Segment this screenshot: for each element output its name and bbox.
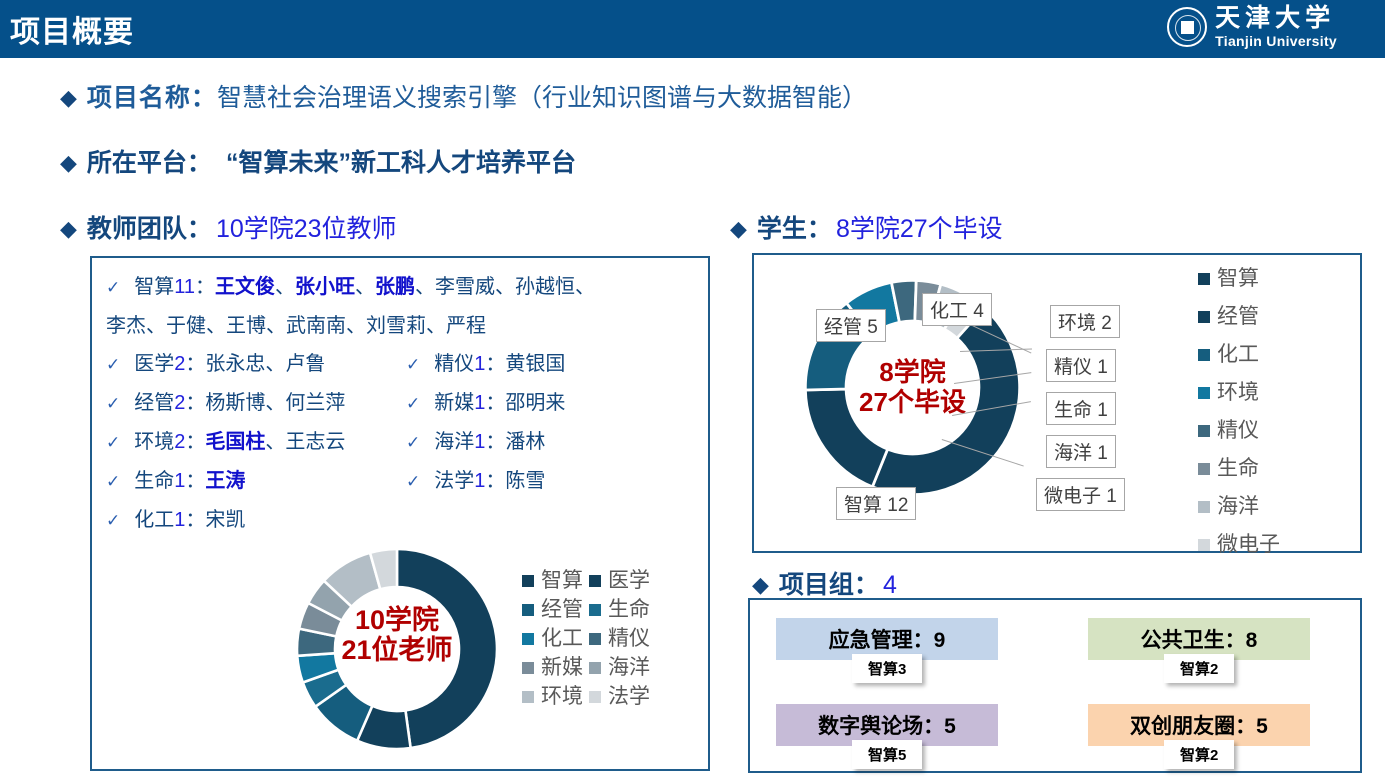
callout-microelectronics: 微电子 1 — [1036, 478, 1125, 511]
legend-item: 环境 — [1198, 374, 1280, 412]
project-groups-label: 项目组： — [779, 565, 879, 601]
tianjin-university-logo: 天津大学 Tianjin University — [1167, 6, 1337, 48]
check-icon: ✓ — [106, 278, 120, 297]
legend-swatch-icon — [1198, 501, 1210, 513]
page-title: 项目概要 — [10, 7, 134, 51]
legend-label: 生命 — [1217, 450, 1259, 488]
legend-swatch-icon — [522, 662, 534, 674]
legend-label: 环境 — [541, 682, 583, 711]
project-groups-value: 4 — [883, 571, 897, 600]
bullet-platform: ◆ 所在平台： “智算未来”新工科人才培养平台 — [60, 143, 576, 179]
check-icon: ✓ — [406, 355, 420, 374]
legend-label: 法学 — [608, 682, 650, 711]
legend-label: 海洋 — [1217, 488, 1259, 526]
callout-environment: 环境 2 — [1050, 305, 1120, 338]
group-tag: 智算2 — [1164, 740, 1234, 769]
diamond-bullet-icon: ◆ — [60, 216, 77, 242]
legend-swatch-icon — [1198, 539, 1210, 551]
teacher-team-label: 教师团队： — [87, 209, 212, 245]
callout-life: 生命 1 — [1046, 392, 1116, 425]
legend-item: 经管 — [1198, 298, 1280, 336]
group-title: 数字舆论场：5 — [818, 710, 956, 740]
university-seal-icon — [1167, 7, 1207, 47]
teacher-donut-center-label: 10学院 21位老师 — [292, 530, 502, 740]
legend-swatch-icon — [522, 604, 534, 616]
check-icon: ✓ — [106, 355, 120, 374]
legend-swatch-icon — [589, 691, 601, 703]
diamond-bullet-icon: ◆ — [752, 572, 769, 598]
logo-english-name: Tianjin University — [1215, 34, 1337, 48]
group-tag: 智算2 — [1164, 654, 1234, 683]
callout-chemical: 化工 4 — [922, 293, 992, 326]
legend-swatch-icon — [589, 633, 601, 645]
legend-label: 精仪 — [608, 624, 650, 653]
legend-item: 精仪 — [589, 624, 650, 653]
check-icon: ✓ — [106, 433, 120, 452]
teacher-team-panel: ✓智算11：王文俊、张小旺、张鹏、李雪威、孙越恒、李杰、于健、王博、武南南、刘雪… — [90, 256, 710, 771]
legend-item: 智算 — [1198, 260, 1280, 298]
teacher-row: ✓医学2：张永忠、卢鲁✓精仪1：黄银国 — [106, 345, 698, 384]
bullet-project-name: ◆ 项目名称： 智慧社会治理语义搜索引擎（行业知识图谱与大数据智能） — [60, 78, 867, 114]
teacher-row-continued: 李杰、于健、王博、武南南、刘雪莉、严程 — [106, 307, 698, 345]
group-title: 双创朋友圈：5 — [1130, 710, 1268, 740]
legend-label: 精仪 — [1217, 412, 1259, 450]
legend-swatch-icon — [1198, 349, 1210, 361]
project-name-value: 智慧社会治理语义搜索引擎（行业知识图谱与大数据智能） — [217, 78, 867, 114]
legend-label: 生命 — [608, 595, 650, 624]
legend-item: 海洋 — [1198, 488, 1280, 526]
legend-item: 微电子 — [1198, 526, 1280, 564]
check-icon: ✓ — [406, 433, 420, 452]
legend-swatch-icon — [1198, 425, 1210, 437]
legend-swatch-icon — [1198, 273, 1210, 285]
legend-swatch-icon — [589, 604, 601, 616]
check-icon: ✓ — [106, 472, 120, 491]
teacher-row: ✓智算11：王文俊、张小旺、张鹏、李雪威、孙越恒、 — [106, 268, 698, 307]
legend-item: 智算 — [522, 566, 583, 595]
legend-swatch-icon — [522, 575, 534, 587]
project-name-label: 项目名称： — [87, 78, 217, 114]
student-donut-legend: 智算经管化工环境精仪生命海洋微电子 — [1198, 260, 1280, 564]
bullet-project-groups: ◆ 项目组： 4 — [752, 565, 897, 601]
legend-label: 经管 — [1217, 298, 1259, 336]
students-value: 8学院27个毕设 — [836, 209, 1003, 245]
legend-item: 海洋 — [589, 653, 650, 682]
legend-item: 化工 — [1198, 336, 1280, 374]
legend-item: 新媒 — [522, 653, 583, 682]
callout-instrument: 精仪 1 — [1046, 349, 1116, 382]
callout-economics: 经管 5 — [816, 309, 886, 342]
platform-label: 所在平台： — [87, 143, 212, 179]
teacher-row: ✓生命1：王涛✓法学1：陈雪 — [106, 462, 698, 501]
diamond-bullet-icon: ◆ — [60, 150, 77, 176]
teacher-donut-chart: 10学院 21位老师 — [292, 530, 502, 768]
student-panel: 8学院 27个毕设 化工 4 经管 5 智算 12 环境 2 精仪 1 生命 1… — [752, 253, 1362, 553]
legend-label: 经管 — [541, 595, 583, 624]
legend-swatch-icon — [522, 633, 534, 645]
teacher-row: ✓环境2：毛国柱、王志云✓海洋1：潘林 — [106, 423, 698, 462]
diamond-bullet-icon: ◆ — [60, 85, 77, 111]
page-header: 项目概要 天津大学 Tianjin University — [0, 0, 1385, 58]
legend-label: 智算 — [1217, 260, 1259, 298]
callout-computing: 智算 12 — [836, 487, 916, 520]
legend-item: 生命 — [1198, 450, 1280, 488]
legend-swatch-icon — [1198, 463, 1210, 475]
bullet-teacher-team: ◆ 教师团队： 10学院23位教师 — [60, 209, 397, 245]
project-groups-panel: 应急管理：9智算3公共卫生：8智算2数字舆论场：5智算5双创朋友圈：5智算2 — [748, 598, 1362, 773]
bullet-students: ◆ 学生： 8学院27个毕设 — [730, 209, 1003, 245]
diamond-bullet-icon: ◆ — [730, 216, 747, 242]
legend-item: 环境 — [522, 682, 583, 711]
platform-value: “智算未来”新工科人才培养平台 — [226, 143, 576, 179]
check-icon: ✓ — [406, 394, 420, 413]
group-tag: 智算5 — [852, 740, 922, 769]
legend-label: 医学 — [608, 566, 650, 595]
teacher-list: ✓智算11：王文俊、张小旺、张鹏、李雪威、孙越恒、李杰、于健、王博、武南南、刘雪… — [106, 268, 698, 540]
legend-swatch-icon — [522, 691, 534, 703]
legend-item: 经管 — [522, 595, 583, 624]
legend-swatch-icon — [1198, 387, 1210, 399]
legend-label: 智算 — [541, 566, 583, 595]
check-icon: ✓ — [406, 472, 420, 491]
legend-label: 新媒 — [541, 653, 583, 682]
legend-label: 微电子 — [1217, 526, 1280, 564]
legend-label: 海洋 — [608, 653, 650, 682]
check-icon: ✓ — [106, 511, 120, 530]
legend-label: 化工 — [541, 624, 583, 653]
legend-label: 环境 — [1217, 374, 1259, 412]
teacher-row: ✓经管2：杨斯博、何兰萍✓新媒1：邵明来 — [106, 384, 698, 423]
legend-item: 化工 — [522, 624, 583, 653]
teacher-donut-legend: 智算医学经管生命化工精仪新媒海洋环境法学 — [522, 566, 650, 711]
check-icon: ✓ — [106, 394, 120, 413]
group-title: 应急管理：9 — [829, 624, 946, 654]
teacher-team-value: 10学院23位教师 — [216, 209, 397, 245]
callout-marine: 海洋 1 — [1046, 435, 1116, 468]
logo-chinese-name: 天津大学 — [1215, 6, 1337, 31]
group-title: 公共卫生：8 — [1141, 624, 1258, 654]
group-tag: 智算3 — [852, 654, 922, 683]
students-label: 学生： — [757, 209, 832, 245]
legend-swatch-icon — [589, 662, 601, 674]
legend-item: 生命 — [589, 595, 650, 624]
legend-item: 法学 — [589, 682, 650, 711]
legend-item: 精仪 — [1198, 412, 1280, 450]
legend-item: 医学 — [589, 566, 650, 595]
legend-swatch-icon — [589, 575, 601, 587]
legend-label: 化工 — [1217, 336, 1259, 374]
legend-swatch-icon — [1198, 311, 1210, 323]
